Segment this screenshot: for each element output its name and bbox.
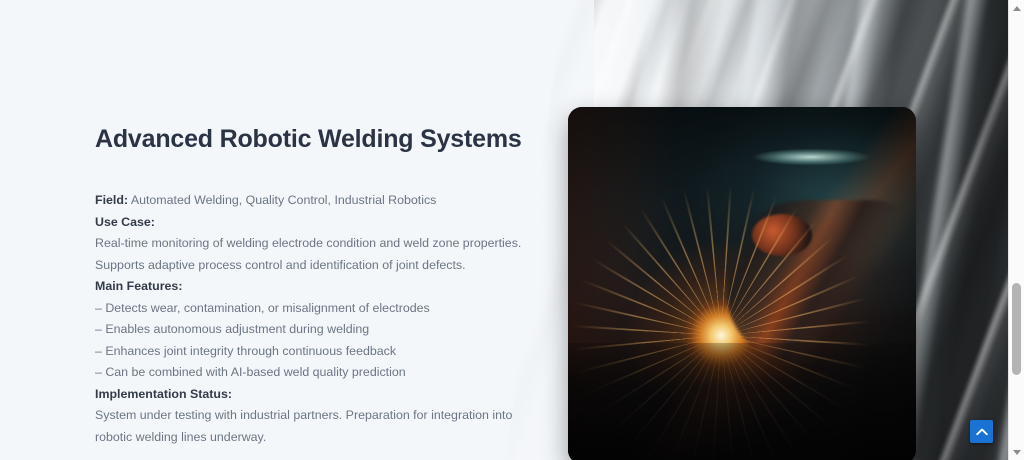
welding-robot-photo: [568, 107, 916, 460]
photo-vignette: [568, 107, 916, 460]
field-label: Field:: [95, 193, 128, 207]
scrollbar-thumb[interactable]: [1012, 283, 1021, 375]
content-column: Advanced Robotic Welding Systems Field: …: [95, 124, 535, 448]
feature-item: – Can be combined with AI-based weld qua…: [95, 362, 535, 384]
vertical-scrollbar[interactable]: [1008, 0, 1024, 460]
field-line: Field: Automated Welding, Quality Contro…: [95, 190, 535, 212]
main-features-label-line: Main Features:: [95, 276, 535, 298]
use-case-value: Real-time monitoring of welding electrod…: [95, 233, 535, 276]
feature-item: – Detects wear, contamination, or misali…: [95, 298, 535, 320]
page-title: Advanced Robotic Welding Systems: [95, 124, 535, 154]
feature-item: – Enables autonomous adjustment during w…: [95, 319, 535, 341]
field-value: Automated Welding, Quality Control, Indu…: [131, 193, 437, 207]
scrollbar-down-arrow-button[interactable]: [1009, 444, 1024, 460]
welding-image-card: [568, 107, 916, 460]
use-case-label-line: Use Case:: [95, 212, 535, 234]
use-case-label: Use Case:: [95, 215, 155, 229]
triangle-down-icon: [1013, 450, 1021, 455]
page-root: Advanced Robotic Welding Systems Field: …: [0, 0, 1024, 460]
scroll-to-top-button[interactable]: [970, 420, 993, 443]
scrollbar-up-arrow-button[interactable]: [1009, 0, 1024, 16]
implementation-status-value: System under testing with industrial par…: [95, 405, 535, 448]
implementation-status-label-line: Implementation Status:: [95, 384, 535, 406]
implementation-status-label: Implementation Status:: [95, 387, 232, 401]
feature-item: – Enhances joint integrity through conti…: [95, 341, 535, 363]
chevron-up-icon: [976, 428, 988, 436]
main-features-label: Main Features:: [95, 279, 182, 293]
triangle-up-icon: [1013, 6, 1021, 11]
detail-block: Field: Automated Welding, Quality Contro…: [95, 190, 535, 448]
